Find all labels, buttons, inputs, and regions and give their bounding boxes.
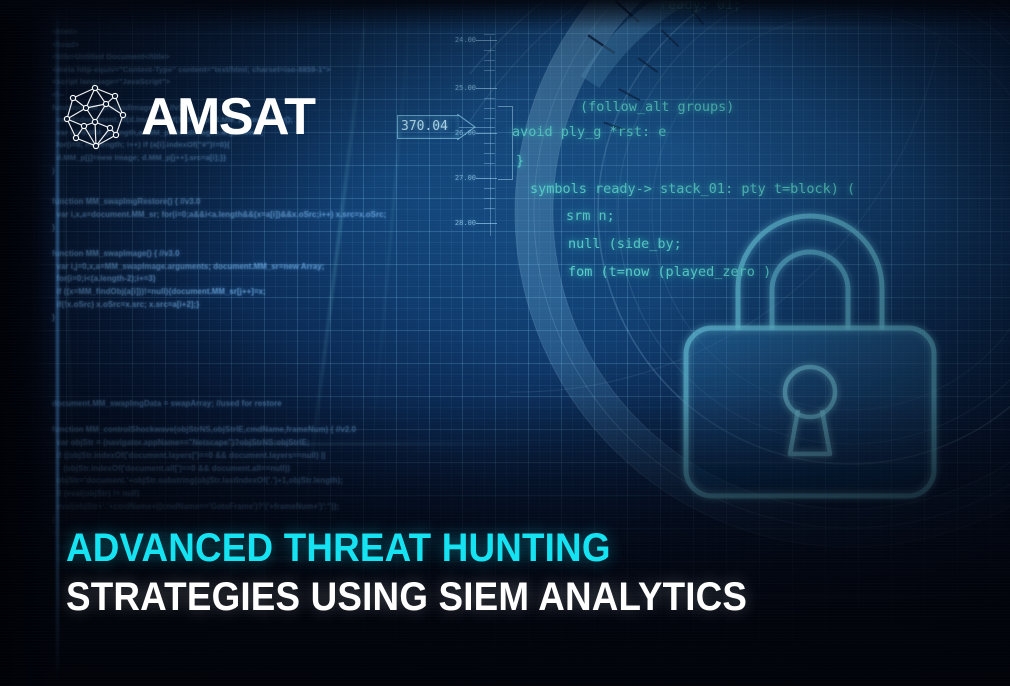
amsat-logo: AMSAT xyxy=(62,84,315,150)
headline-block: ADVANCED THREAT HUNTING STRATEGIES USING… xyxy=(66,528,806,617)
network-mesh-icon xyxy=(62,84,128,150)
headline-line-primary: ADVANCED THREAT HUNTING xyxy=(66,528,747,568)
left-edge-shadow xyxy=(0,0,58,686)
amsat-wordmark: AMSAT xyxy=(141,91,315,143)
banner-image: 24.00 25.00 26.00 27.00 28.00 370.04 <ht… xyxy=(0,0,1010,686)
left-edge-highlight xyxy=(56,0,59,686)
headline-line-secondary: STRATEGIES USING SIEM ANALYTICS xyxy=(66,577,747,617)
top-edge-shadow xyxy=(0,0,1010,30)
